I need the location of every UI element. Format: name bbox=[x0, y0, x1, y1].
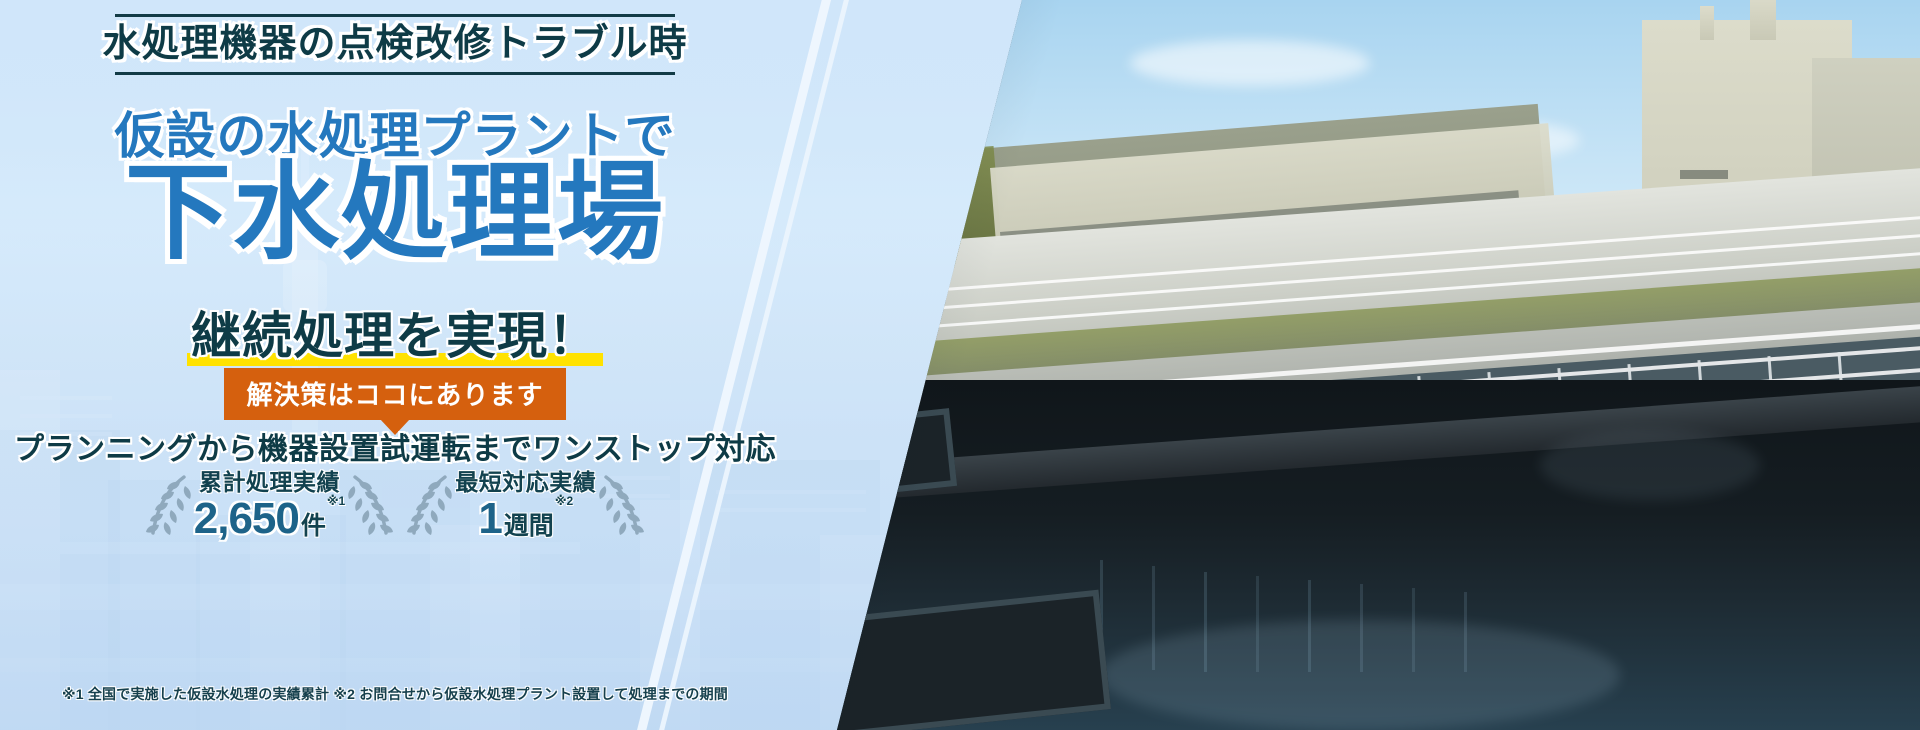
solution-badge-wrap: 解決策はココにあります bbox=[0, 368, 790, 420]
stat-body: 累計処理実績 2,650 件 ※1 bbox=[192, 470, 347, 541]
laurel-branch-right-icon bbox=[598, 473, 644, 539]
solution-badge: 解決策はココにあります bbox=[224, 368, 565, 420]
laurel-branch-left-icon bbox=[146, 473, 192, 539]
subtitle-text: プランニングから機器設置試運転までワンストップ対応 bbox=[0, 424, 790, 468]
kicker-text: 水処理機器の点検改修トラブル時 bbox=[0, 17, 790, 72]
stat-body: 最短対応実績 1 週間 ※2 bbox=[453, 470, 598, 541]
hero-text-content: 水処理機器の点検改修トラブル時 仮設の水処理プラントで 下水処理場 継続処理を実… bbox=[0, 0, 900, 730]
solution-badge-label: 解決策はココにあります bbox=[246, 380, 543, 410]
kicker-rule-bottom bbox=[115, 72, 675, 75]
headline-line-3: 継続処理を実現！ bbox=[191, 296, 599, 368]
hero-banner: 水処理機器の点検改修トラブル時 仮設の水処理プラントで 下水処理場 継続処理を実… bbox=[0, 0, 1920, 730]
stat-item: 最短対応実績 1 週間 ※2 bbox=[403, 470, 648, 541]
footnote-text: ※1 全国で実施した仮設水処理の実績累計 ※2 お問合せから仮設水処理プラント設… bbox=[0, 684, 790, 704]
laurel-branch-right-icon bbox=[347, 473, 393, 539]
stat-label: 最短対応実績 bbox=[455, 470, 596, 495]
laurel-branch-left-icon bbox=[407, 473, 453, 539]
stat-item: 累計処理実績 2,650 件 ※1 bbox=[142, 470, 397, 541]
headline-line-3-text: 継続処理を実現！ bbox=[191, 308, 599, 364]
stat-note-marker: ※1 bbox=[327, 495, 345, 507]
stat-label: 累計処理実績 bbox=[194, 470, 345, 495]
stat-value: 1 週間 ※2 bbox=[455, 497, 596, 541]
stat-value: 2,650 件 ※1 bbox=[194, 497, 345, 541]
headline-line-3-wrap: 継続処理を実現！ bbox=[0, 296, 790, 368]
stats-row: 累計処理実績 2,650 件 ※1 bbox=[0, 470, 790, 541]
stat-note-marker: ※2 bbox=[555, 495, 573, 507]
stat-number: 1 bbox=[478, 497, 501, 541]
stat-unit: 週間 bbox=[504, 514, 554, 541]
stat-unit: 件 bbox=[301, 514, 326, 541]
kicker-block: 水処理機器の点検改修トラブル時 bbox=[0, 14, 790, 75]
stat-number: 2,650 bbox=[194, 497, 299, 541]
headline-line-2: 下水処理場 bbox=[0, 156, 790, 270]
